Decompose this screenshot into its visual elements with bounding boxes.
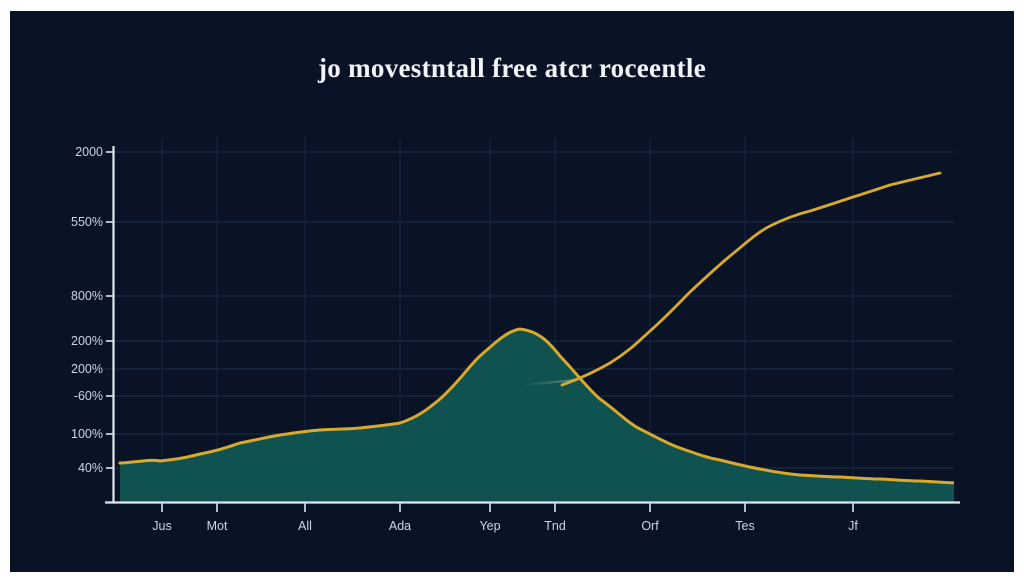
x-tick-label-6: Orf [641, 519, 658, 533]
x-tick-label-0: Jus [152, 519, 171, 533]
x-tick-label-2: All [298, 519, 312, 533]
x-tick-label-3: Ada [389, 519, 411, 533]
y-tick-label-5: -60% [74, 389, 103, 403]
rising-series-line [562, 173, 940, 385]
x-tick-label-5: Tnd [544, 519, 566, 533]
y-tick-label-6: 100% [71, 427, 103, 441]
x-tick-label-7: Tes [735, 519, 754, 533]
chart-panel: jo movestntall free atcr roceentle [10, 11, 1014, 572]
chart-page: jo movestntall free atcr roceentle [0, 0, 1024, 585]
y-tick-label-3: 200% [71, 334, 103, 348]
x-tick-label-8: Jf [848, 519, 858, 533]
chart-plot-area [10, 11, 1014, 572]
y-tick-label-7: 40% [78, 461, 103, 475]
x-tick-label-1: Mot [207, 519, 228, 533]
y-tick-label-0: 2000 [75, 145, 103, 159]
x-tick-marks [162, 503, 853, 512]
y-tick-label-1: 550% [71, 215, 103, 229]
y-axis-tick-labels: 2000 550% 800% 200% 200% -60% 100% 40% [10, 11, 103, 572]
x-tick-label-4: Yep [479, 519, 500, 533]
y-tick-label-4: 200% [71, 362, 103, 376]
y-tick-label-2: 800% [71, 289, 103, 303]
